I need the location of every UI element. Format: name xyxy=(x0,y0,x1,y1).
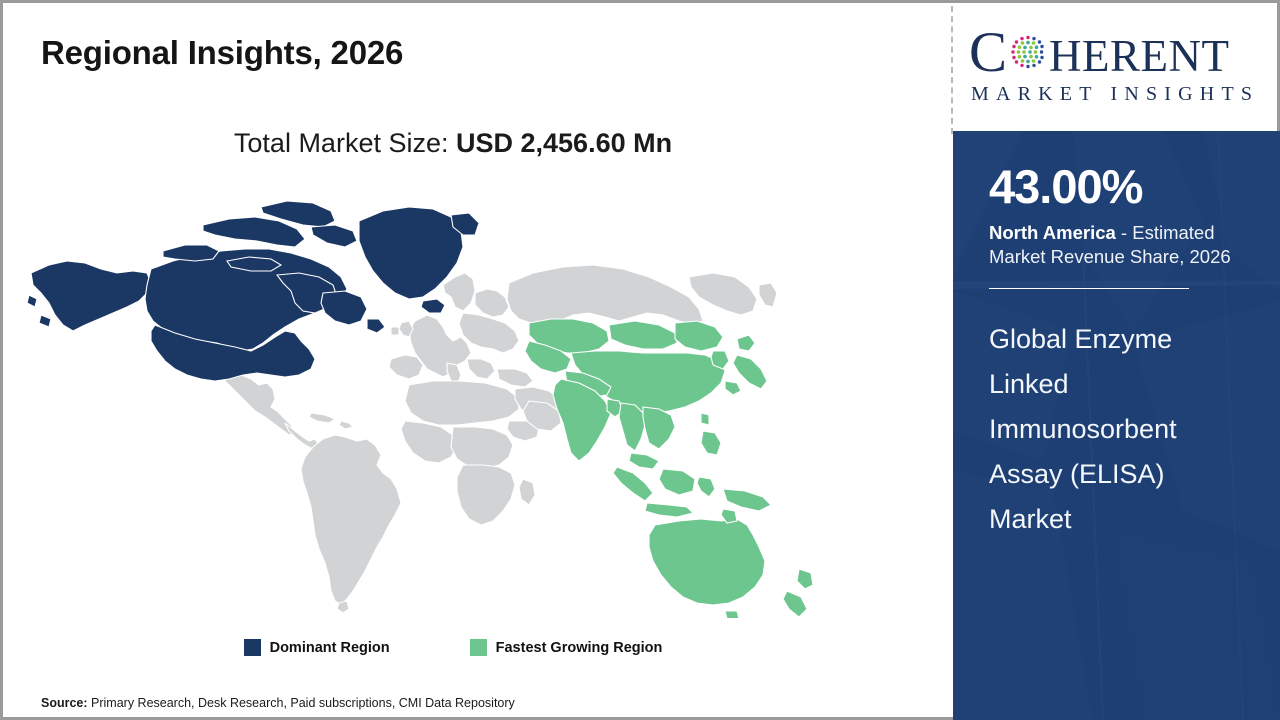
divider-rule xyxy=(989,288,1189,290)
region-canada-arctic-4 xyxy=(163,245,219,261)
left-content-area: Regional Insights, 2026 Total Market Siz… xyxy=(3,3,953,717)
region-canada-arctic-3 xyxy=(311,225,357,247)
map-layer-fastest-growing-region xyxy=(525,319,813,618)
region-borneo xyxy=(659,469,695,495)
region-newfoundland xyxy=(367,319,385,333)
region-new-zealand-north xyxy=(797,569,813,589)
source-note: Source: Primary Research, Desk Research,… xyxy=(41,696,515,710)
region-baltics xyxy=(475,289,509,317)
market-size-value: USD 2,456.60 Mn xyxy=(456,128,672,158)
region-malaysia xyxy=(629,453,659,469)
legend-swatch-fastest-icon xyxy=(470,639,487,656)
highlight-panel: 43.00% North America - Estimated Market … xyxy=(953,131,1280,720)
region-china-north xyxy=(675,321,723,351)
region-iceland xyxy=(421,299,445,313)
highlight-panel-content: 43.00% North America - Estimated Market … xyxy=(953,131,1280,541)
logo-name-rest: HERENT xyxy=(1049,30,1229,82)
region-africa-central xyxy=(451,427,513,469)
region-java xyxy=(645,503,693,517)
region-caribbean-2 xyxy=(339,421,353,429)
world-map-svg xyxy=(23,173,903,618)
region-africa-north xyxy=(405,381,519,425)
vertical-divider xyxy=(951,6,953,134)
region-africa-west xyxy=(401,421,457,463)
legend-item-fastest-growing[interactable]: Fastest Growing Region xyxy=(470,639,663,656)
region-south-america-tip xyxy=(337,601,349,613)
map-layer-dominant-region xyxy=(27,201,479,381)
region-scandinavia xyxy=(443,273,475,311)
region-africa-south xyxy=(457,465,515,525)
region-papua-new-guinea xyxy=(723,489,771,511)
source-text: Primary Research, Desk Research, Paid su… xyxy=(88,696,515,710)
legend-label-dominant: Dominant Region xyxy=(270,640,390,656)
region-japan-south xyxy=(725,381,741,395)
region-indochina xyxy=(643,407,675,449)
region-taiwan xyxy=(701,413,709,425)
region-mongolia xyxy=(609,321,677,349)
coherent-market-insights-logo[interactable]: C HERENT MARKET INSIGHTS xyxy=(965,21,1273,117)
infographic-slide: Regional Insights, 2026 Total Market Siz… xyxy=(0,0,1280,720)
share-description: North America - Estimated Market Revenue… xyxy=(989,221,1252,270)
region-sulawesi xyxy=(697,477,715,497)
region-south-america xyxy=(301,435,401,605)
legend-swatch-dominant-icon xyxy=(244,639,261,656)
region-alaska xyxy=(27,261,151,331)
region-sumatra xyxy=(613,467,653,501)
globe-dots-icon xyxy=(1008,32,1048,72)
share-percentage: 43.00% xyxy=(989,163,1252,210)
region-japan-north xyxy=(737,335,755,351)
region-japan-main xyxy=(733,355,767,389)
logo-wordmark: C HERENT xyxy=(969,27,1230,79)
region-australia xyxy=(649,519,765,605)
region-central-america xyxy=(285,423,319,449)
logo-tagline: MARKET INSIGHTS xyxy=(971,83,1259,106)
market-report-title: Global Enzyme Linked Immunosorbent Assay… xyxy=(989,317,1252,541)
region-madagascar xyxy=(519,479,535,505)
region-labrador xyxy=(321,291,367,325)
region-caribbean-1 xyxy=(309,413,335,423)
legend-label-fastest-growing: Fastest Growing Region xyxy=(496,640,663,656)
region-turkey xyxy=(497,369,533,387)
source-label: Source: xyxy=(41,696,88,710)
region-ireland xyxy=(391,327,399,335)
region-russia xyxy=(507,265,703,325)
region-new-zealand-south xyxy=(783,591,807,617)
region-tasmania xyxy=(725,611,739,618)
world-map[interactable] xyxy=(23,173,903,618)
market-size-label: Total Market Size: xyxy=(234,128,449,158)
region-philippines xyxy=(701,431,721,455)
legend-item-dominant[interactable]: Dominant Region xyxy=(244,639,390,656)
region-iberia xyxy=(389,355,423,379)
map-legend: Dominant Region Fastest Growing Region xyxy=(3,639,903,656)
share-region: North America xyxy=(989,222,1116,243)
region-kamchatka xyxy=(759,283,777,307)
page-title: Regional Insights, 2026 xyxy=(41,34,403,72)
total-market-size: Total Market Size: USD 2,456.60 Mn xyxy=(3,128,903,159)
logo-letter-c: C xyxy=(969,27,1007,79)
region-balkans xyxy=(467,359,495,379)
